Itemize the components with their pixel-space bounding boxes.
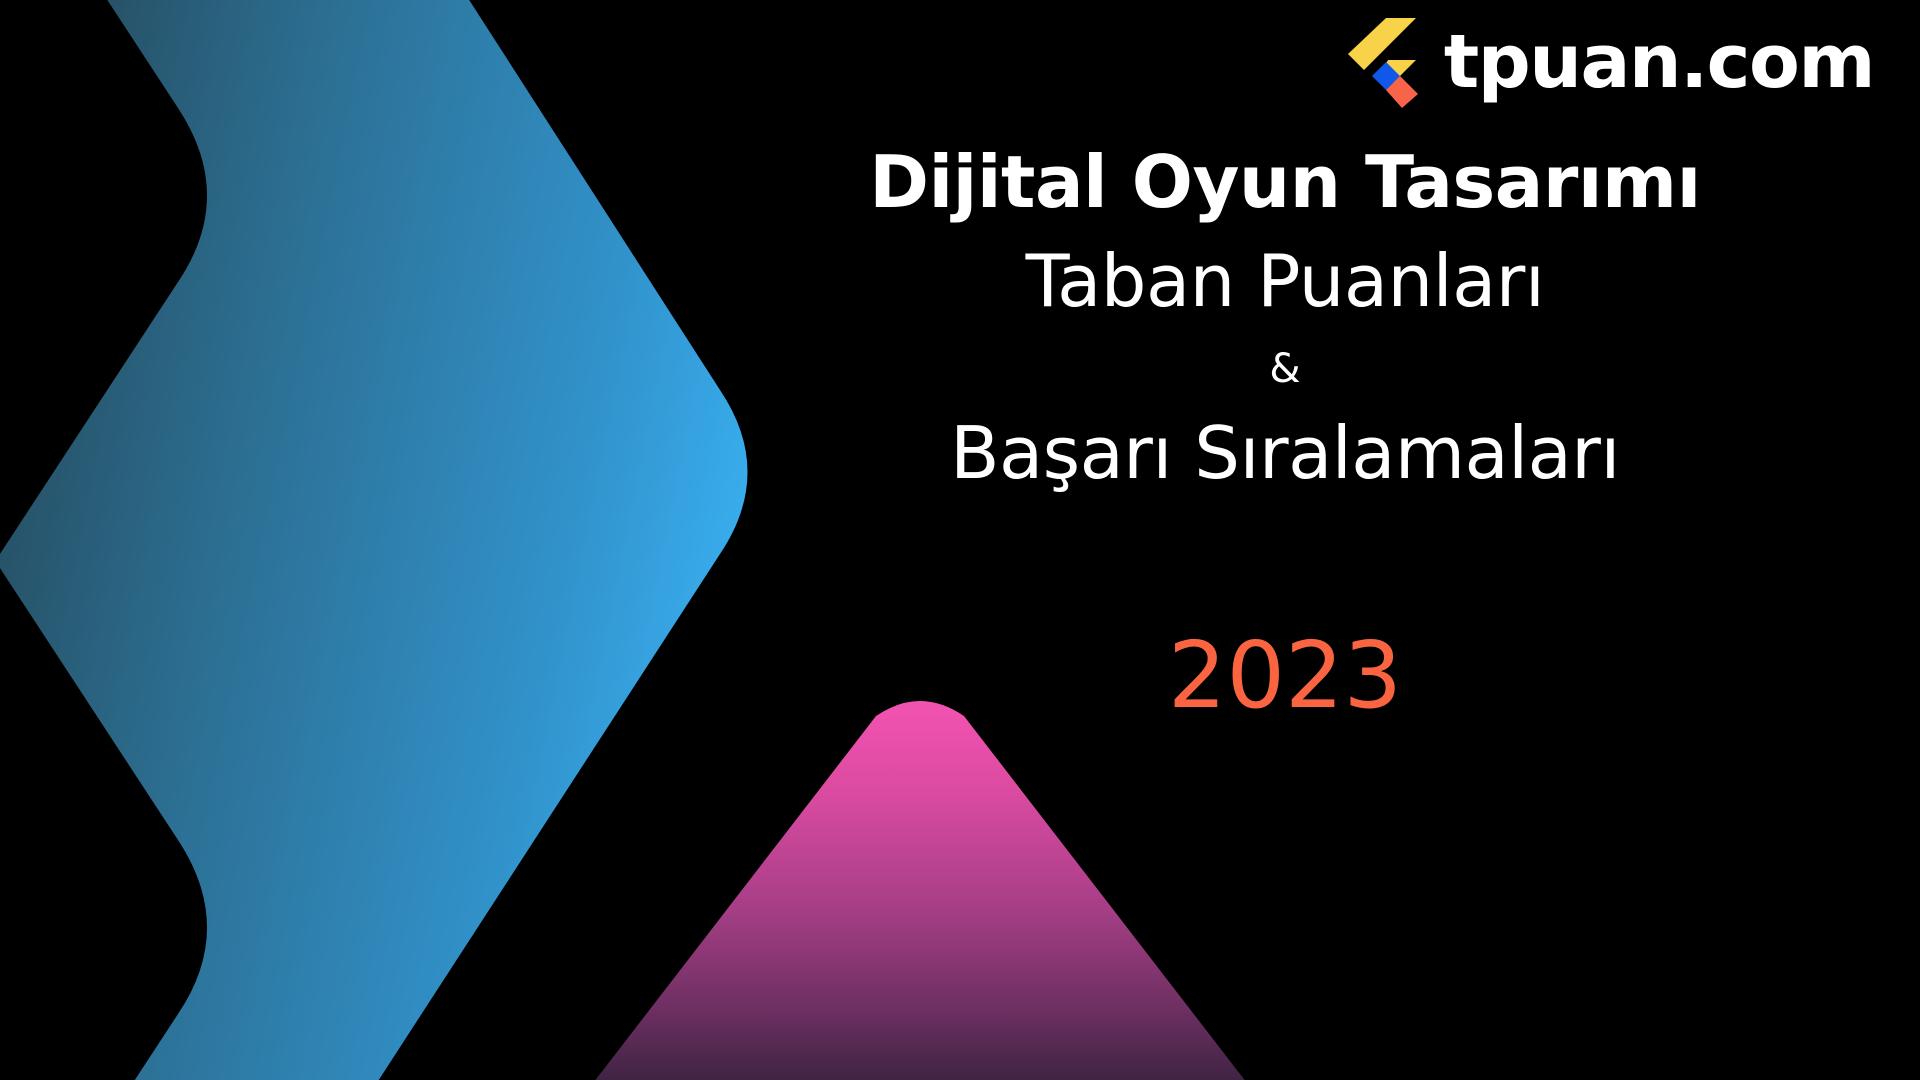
blue-chevron-shape: [0, 0, 800, 1080]
headline-line-1: Dijital Oyun Tasarımı: [700, 140, 1870, 225]
poster-canvas: tpuan.com Dijital Oyun Tasarımı Taban Pu…: [0, 0, 1920, 1080]
flutter-logo-icon: [1342, 16, 1418, 108]
pink-triangle-shape: [560, 700, 1280, 1080]
headline-separator: &: [700, 346, 1870, 393]
headline-block: Dijital Oyun Tasarımı Taban Puanları & B…: [700, 140, 1870, 496]
year-label: 2023: [700, 630, 1870, 722]
headline-line-3: Başarı Sıralamaları: [700, 411, 1870, 496]
brand-name: tpuan.com: [1444, 25, 1874, 99]
headline-line-2: Taban Puanları: [700, 239, 1870, 324]
brand-logo[interactable]: tpuan.com: [1342, 16, 1874, 108]
